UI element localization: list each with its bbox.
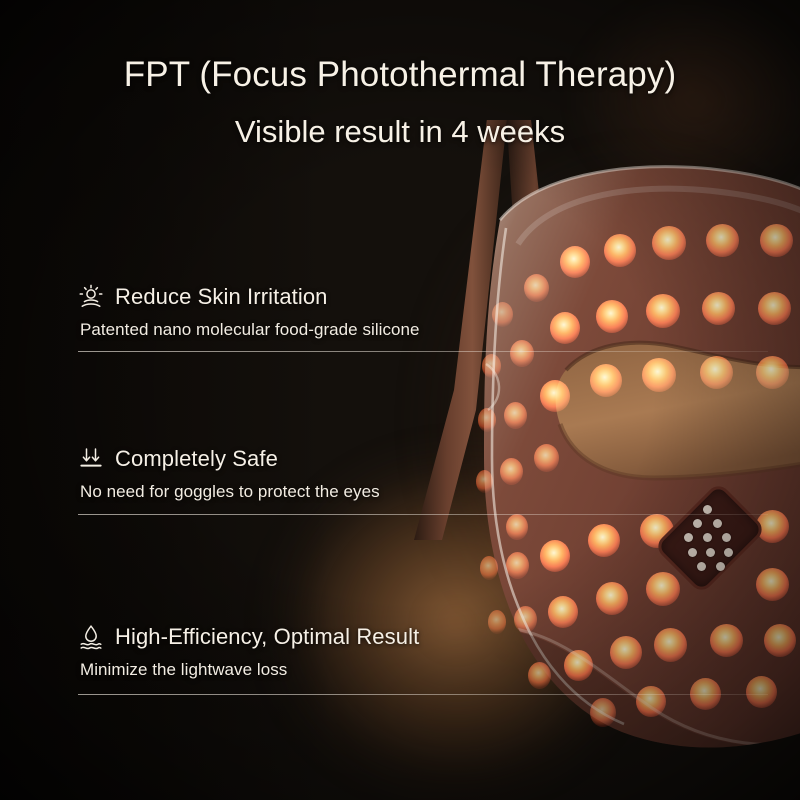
feature-separator-2 bbox=[78, 514, 768, 515]
page-subheadline: Visible result in 4 weeks bbox=[0, 114, 800, 150]
feature-item-high-efficiency: High-Efficiency, Optimal Result Minimize… bbox=[78, 624, 598, 680]
page-headline: FPT (Focus Photothermal Therapy) bbox=[0, 56, 800, 94]
feature-item-completely-safe: Completely Safe No need for goggles to p… bbox=[78, 446, 598, 502]
feature-header: Completely Safe bbox=[78, 446, 598, 472]
droplet-waves-icon bbox=[78, 624, 104, 650]
feature-header: Reduce Skin Irritation bbox=[78, 284, 598, 310]
feature-title: Completely Safe bbox=[115, 446, 278, 472]
feature-title: Reduce Skin Irritation bbox=[115, 284, 328, 310]
sun-waves-icon bbox=[78, 284, 104, 310]
feature-item-reduce-skin-irritation: Reduce Skin Irritation Patented nano mol… bbox=[78, 284, 598, 340]
feature-header: High-Efficiency, Optimal Result bbox=[78, 624, 598, 650]
down-arrows-bar-icon bbox=[78, 446, 104, 472]
feature-description: Minimize the lightwave loss bbox=[80, 660, 598, 680]
feature-title: High-Efficiency, Optimal Result bbox=[115, 624, 419, 650]
feature-description: Patented nano molecular food-grade silic… bbox=[80, 320, 598, 340]
feature-description: No need for goggles to protect the eyes bbox=[80, 482, 598, 502]
product-feature-graphic: FPT (Focus Photothermal Therapy) Visible… bbox=[0, 0, 800, 800]
feature-separator-1 bbox=[78, 351, 768, 352]
nose-sensor-dots bbox=[672, 488, 742, 582]
feature-separator-3 bbox=[78, 694, 768, 695]
